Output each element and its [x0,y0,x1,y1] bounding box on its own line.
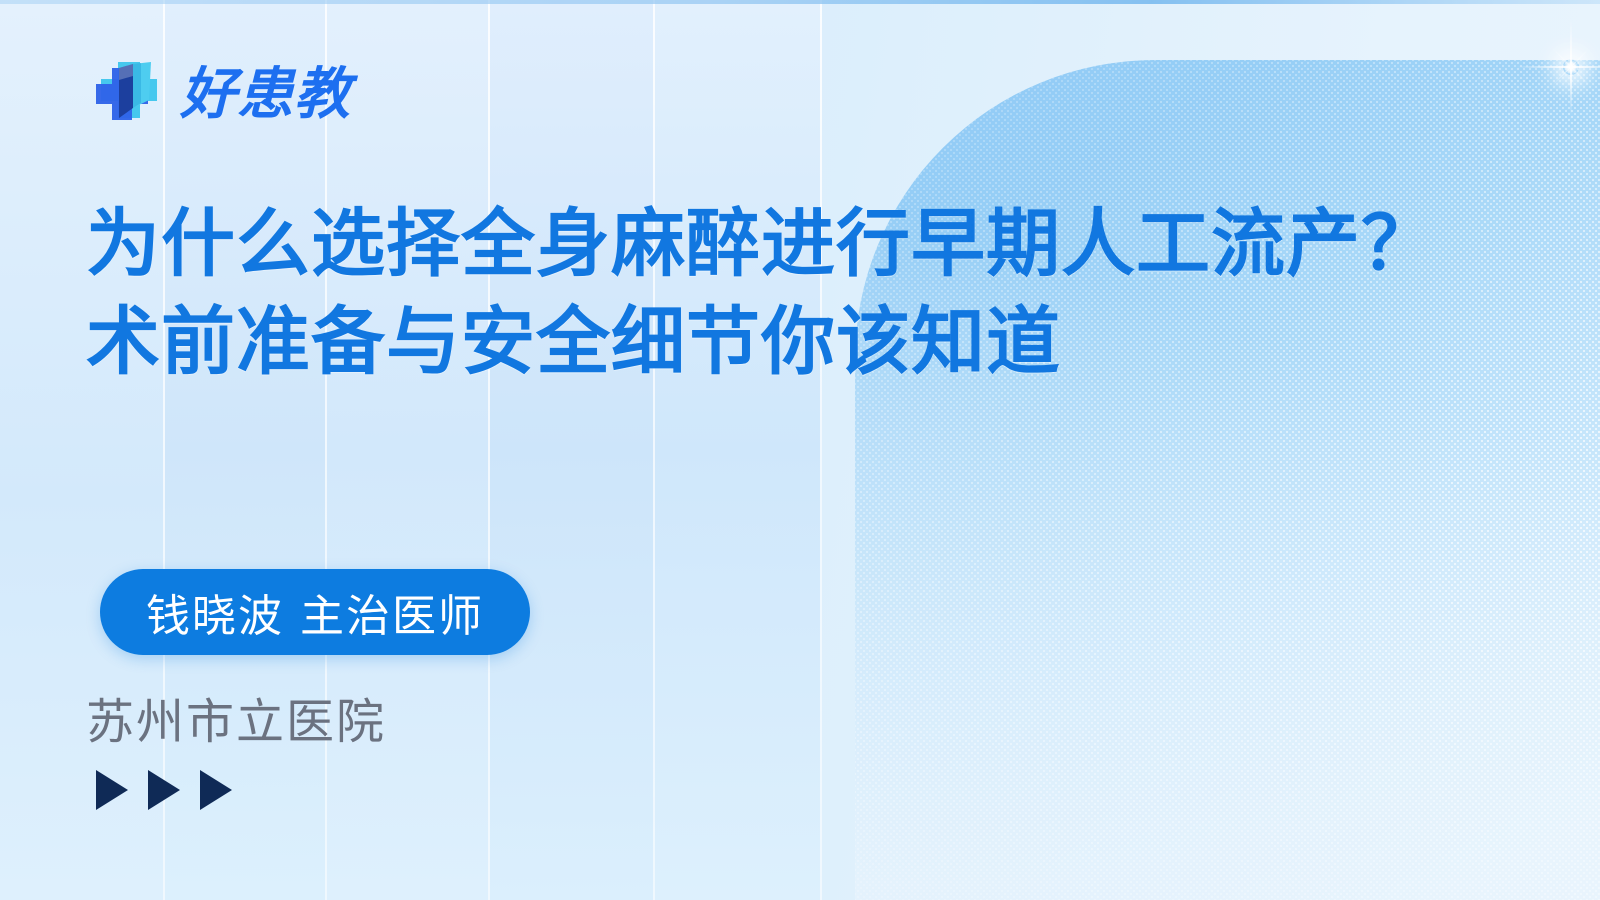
panel-fade-overlay [855,60,1600,900]
background-stripe [655,0,822,900]
brand-logo: 好患教 [88,56,351,134]
brand-name: 好患教 [180,67,351,123]
headline-line-1: 为什么选择全身麻醉进行早期人工流产？ [86,196,1506,294]
headline-line-2: 术前准备与安全细节你该知道 [86,294,1506,392]
medical-cross-book-icon [88,56,166,134]
play-triangle-icon [148,770,180,810]
poster-canvas: 好患教 为什么选择全身麻醉进行早期人工流产？ 术前准备与安全细节你该知道 钱晓波… [0,0,1600,900]
doctor-badge: 钱晓波 主治医师 [100,569,530,655]
background-stripes [0,0,822,900]
background-stripe [165,0,327,900]
arrow-decoration [96,770,232,810]
background-stripe [0,0,165,900]
play-triangle-icon [200,770,232,810]
background-stripe [490,0,655,900]
play-triangle-icon [96,770,128,810]
sparkle-icon [1516,12,1600,122]
hospital-name: 苏州市立医院 [86,682,386,752]
top-hairline [0,0,1600,4]
page-title: 为什么选择全身麻醉进行早期人工流产？ 术前准备与安全细节你该知道 [86,196,1506,391]
decorative-rounded-panel [855,60,1600,900]
background-stripe [327,0,490,900]
